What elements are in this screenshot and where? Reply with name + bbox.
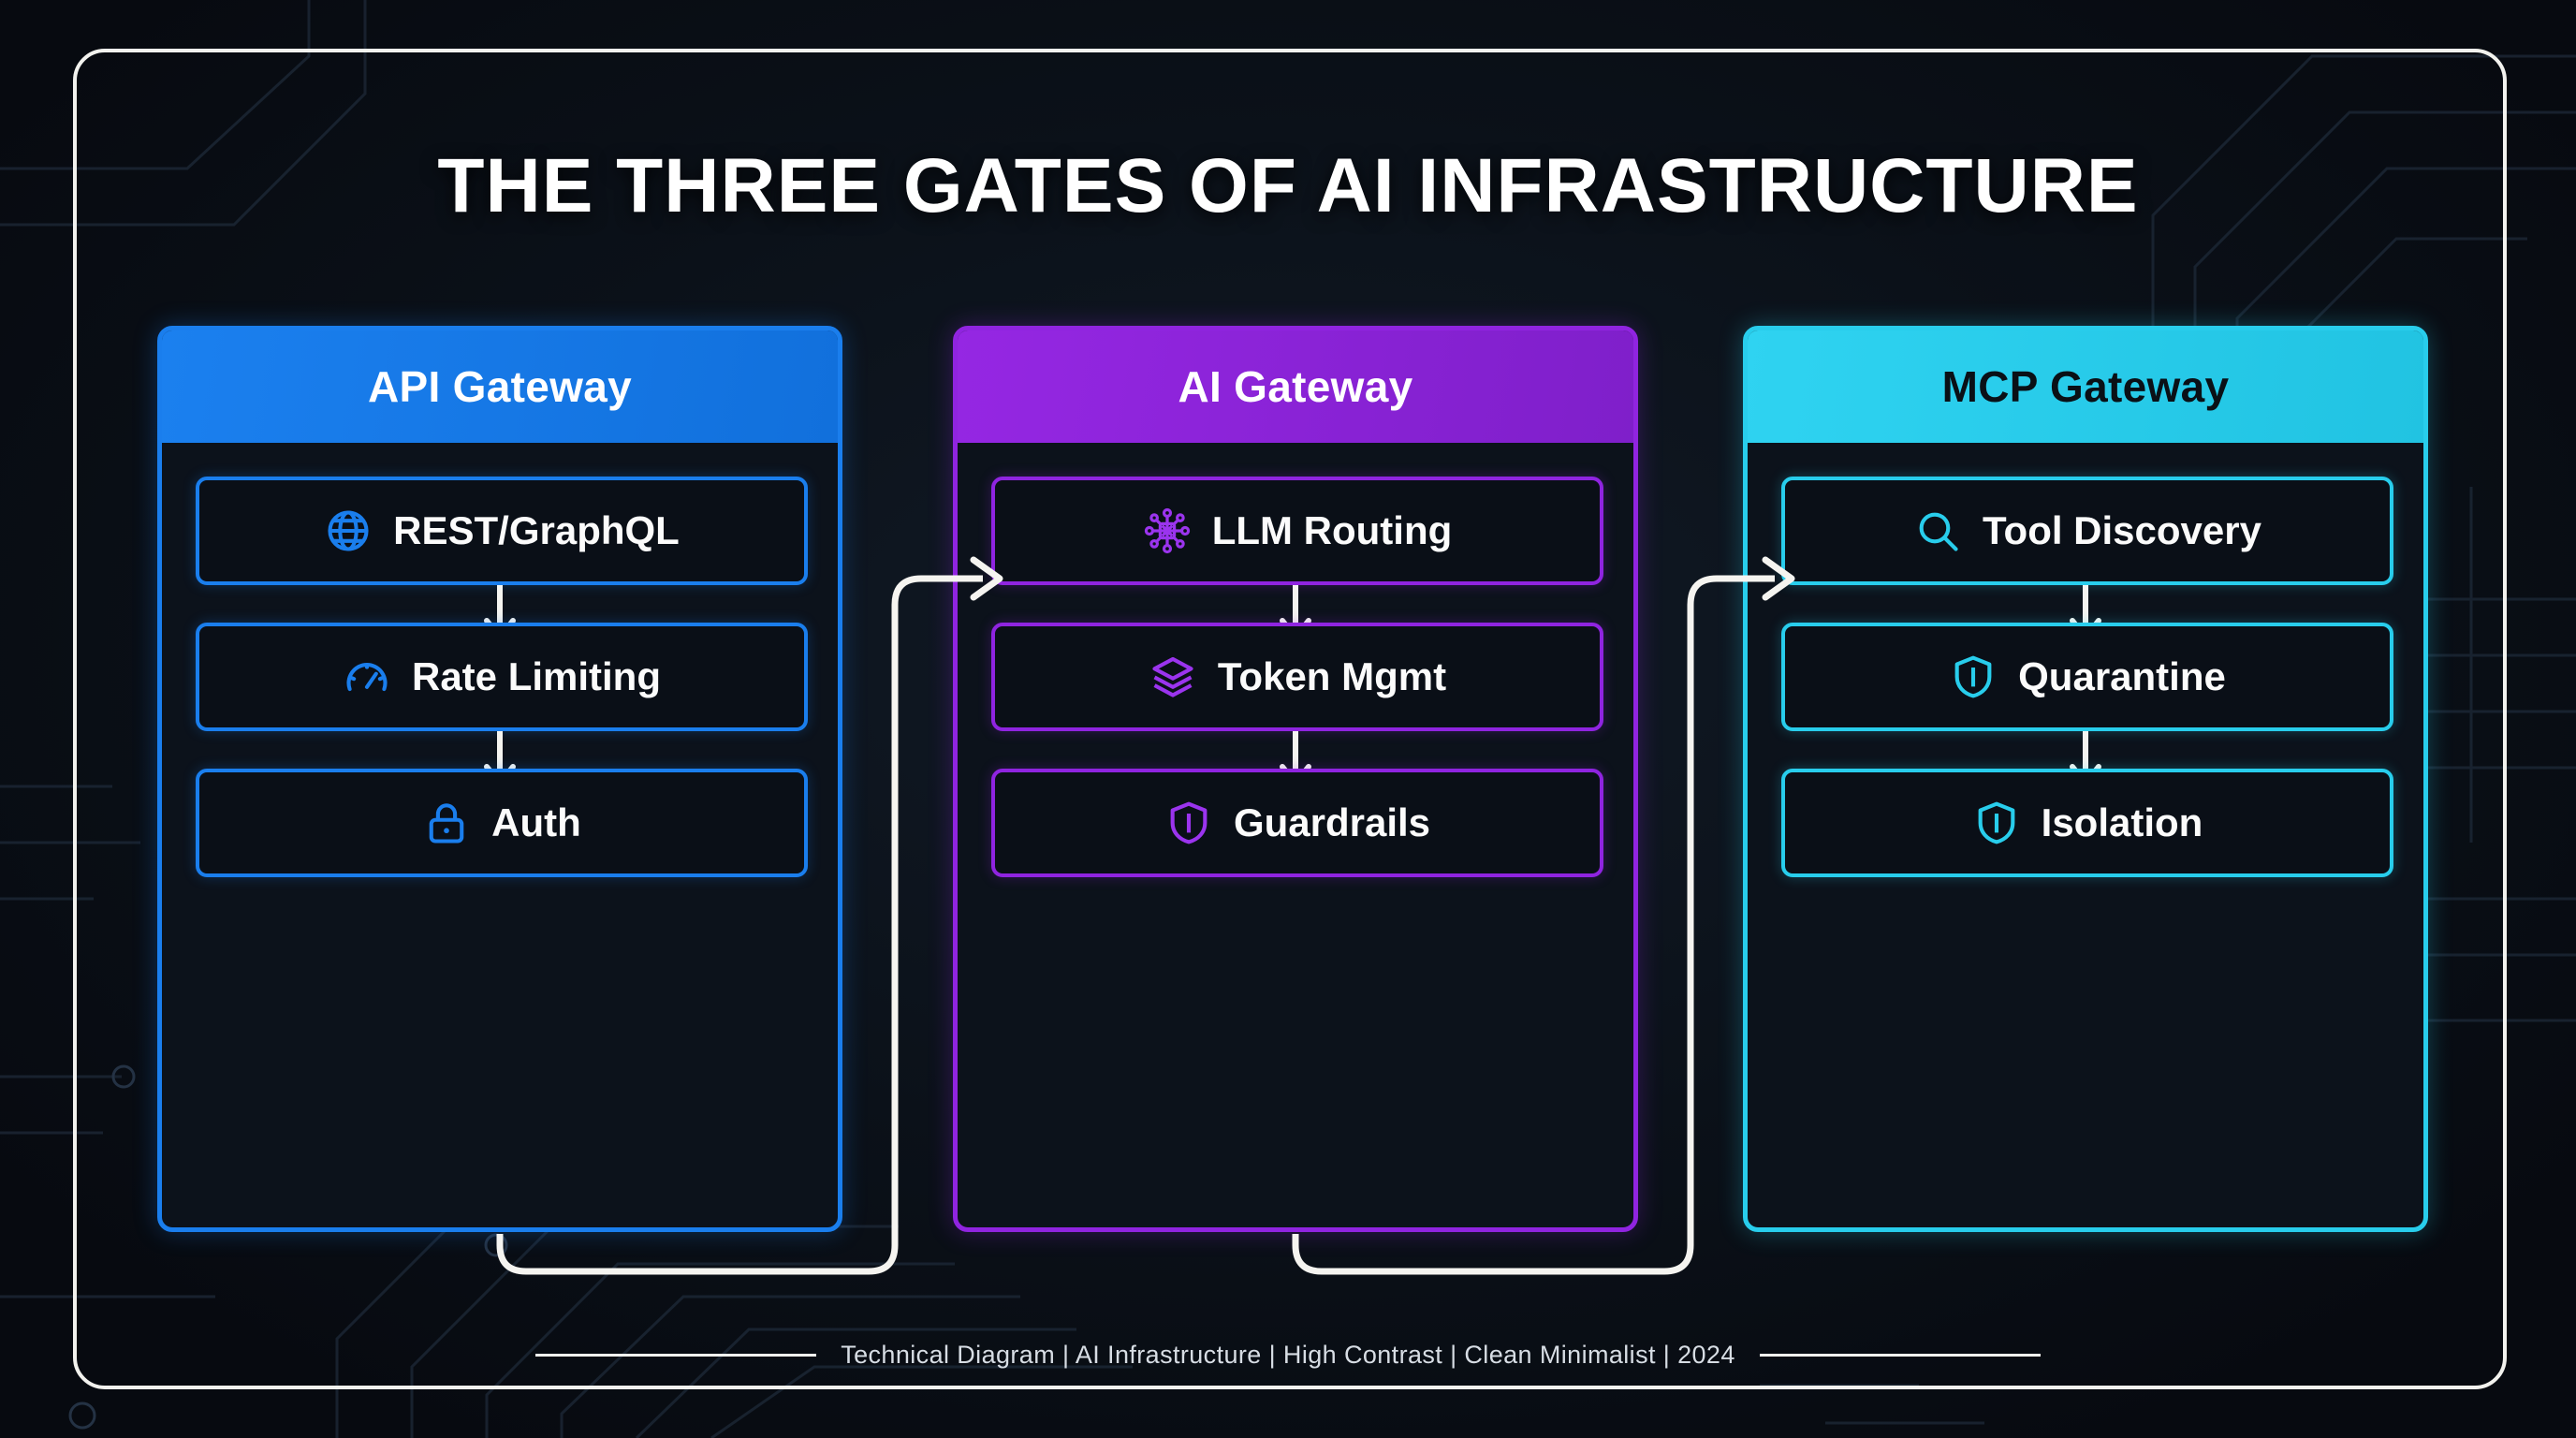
shield-icon [1972, 799, 2021, 847]
shield-icon [1949, 653, 1998, 701]
shield-icon [1164, 799, 1213, 847]
page-title: THE THREE GATES OF AI INFRASTRUCTURE [0, 142, 2576, 230]
gateway-panel-ai: AI Gateway LLM Routing To [953, 326, 1638, 1232]
feature-label: Tool Discovery [1983, 508, 2261, 553]
lock-icon [422, 799, 471, 847]
feature-box-rate-limiting[interactable]: Rate Limiting [196, 623, 808, 731]
neural-network-icon [1143, 506, 1192, 555]
feature-box-quarantine[interactable]: Quarantine [1781, 623, 2393, 731]
panel-body-ai: LLM Routing Token Mgmt Guardrails [958, 443, 1633, 1232]
panel-header-ai: AI Gateway [958, 330, 1633, 443]
feature-label: Rate Limiting [412, 654, 661, 699]
gauge-icon [343, 653, 391, 701]
feature-label: Isolation [2042, 800, 2203, 845]
feature-box-auth[interactable]: Auth [196, 769, 808, 877]
feature-label: REST/GraphQL [393, 508, 680, 553]
layers-icon [1149, 653, 1197, 701]
feature-box-guardrails[interactable]: Guardrails [991, 769, 1603, 877]
feature-label: Token Mgmt [1218, 654, 1446, 699]
panel-body-mcp: Tool Discovery Quarantine Isolation [1748, 443, 2423, 1232]
panel-header-api: API Gateway [162, 330, 838, 443]
feature-label: Guardrails [1234, 800, 1430, 845]
footer-rule-left [535, 1354, 816, 1357]
gateway-panel-api: API Gateway REST/GraphQL Rate Limiting [157, 326, 842, 1232]
feature-box-tool-discovery[interactable]: Tool Discovery [1781, 477, 2393, 585]
globe-icon [324, 506, 373, 555]
feature-box-isolation[interactable]: Isolation [1781, 769, 2393, 877]
gateway-panel-mcp: MCP Gateway Tool Discovery Quarantine [1743, 326, 2428, 1232]
feature-box-token-mgmt[interactable]: Token Mgmt [991, 623, 1603, 731]
panel-header-mcp: MCP Gateway [1748, 330, 2423, 443]
feature-label: Auth [491, 800, 581, 845]
feature-label: Quarantine [2018, 654, 2226, 699]
feature-box-llm-routing[interactable]: LLM Routing [991, 477, 1603, 585]
panel-body-api: REST/GraphQL Rate Limiting Auth [162, 443, 838, 1232]
feature-label: LLM Routing [1212, 508, 1453, 553]
footer: Technical Diagram | AI Infrastructure | … [0, 1341, 2576, 1370]
search-icon [1913, 506, 1962, 555]
feature-box-rest-graphql[interactable]: REST/GraphQL [196, 477, 808, 585]
footer-rule-right [1760, 1354, 2041, 1357]
footer-text: Technical Diagram | AI Infrastructure | … [841, 1341, 1735, 1370]
